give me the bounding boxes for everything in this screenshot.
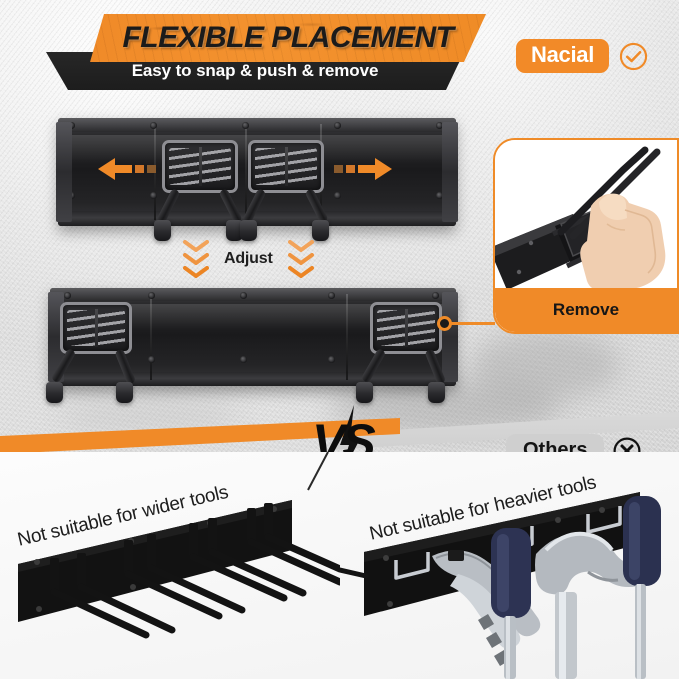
rail-top-lip bbox=[58, 118, 456, 132]
comparison-panel-heavier-tools: Not suitable for heavier tools bbox=[340, 452, 679, 679]
clip-frame bbox=[370, 302, 442, 354]
page-subtitle: Easy to snap & push & remove bbox=[46, 52, 464, 90]
rail-screw bbox=[64, 292, 71, 299]
rail-screw bbox=[328, 356, 335, 363]
comparison-panel-wider-tools: Not suitable for wider tools bbox=[0, 452, 340, 679]
rail-screw bbox=[150, 192, 157, 199]
clip-divider bbox=[95, 309, 98, 347]
rail-seam bbox=[150, 294, 152, 380]
rail-screw bbox=[240, 292, 247, 299]
top-section: FLEXIBLE PLACEMENT Easy to snap & push &… bbox=[0, 0, 679, 452]
rail-screw bbox=[334, 122, 341, 129]
rail-screw bbox=[242, 122, 249, 129]
hook-tip bbox=[46, 382, 63, 403]
rail-seam bbox=[346, 294, 348, 380]
hook-tip bbox=[240, 220, 257, 241]
rail-screw bbox=[240, 356, 247, 363]
rail-endcap-right bbox=[442, 292, 458, 382]
chevron-down-triple-icon bbox=[288, 240, 314, 278]
rail-endcap-left bbox=[56, 122, 72, 221]
rail-top-lip bbox=[50, 288, 456, 301]
rail-screw bbox=[334, 192, 341, 199]
hook-tip bbox=[116, 382, 133, 403]
rail-screw bbox=[150, 122, 157, 129]
remove-photo bbox=[495, 140, 677, 292]
remove-label: Remove bbox=[553, 300, 619, 320]
clip-frame bbox=[60, 302, 132, 354]
brand-badge: Nacial bbox=[516, 39, 648, 73]
arrow-right-icon bbox=[328, 156, 392, 182]
chevron-down-triple-icon bbox=[183, 240, 209, 278]
remove-label-bar: Remove bbox=[495, 288, 677, 332]
rail-screw bbox=[328, 292, 335, 299]
rail-screw bbox=[432, 292, 439, 299]
header-banner: FLEXIBLE PLACEMENT Easy to snap & push &… bbox=[46, 14, 486, 90]
adjust-label: Adjust bbox=[224, 250, 273, 268]
brand-name: Nacial bbox=[516, 39, 609, 73]
screwdriver bbox=[623, 496, 661, 679]
rail-seam bbox=[245, 124, 247, 219]
hand-removing-hook-illustration bbox=[495, 140, 677, 292]
hook-tip bbox=[428, 382, 445, 403]
hook-clip bbox=[162, 140, 238, 226]
hook-tip bbox=[356, 382, 373, 403]
bolt-tail-line bbox=[280, 452, 340, 492]
tool-rail-adjustable-bottom bbox=[50, 288, 456, 386]
hook-tip bbox=[312, 220, 329, 241]
check-circle-icon bbox=[619, 42, 648, 71]
adjust-indicator: Adjust bbox=[183, 240, 314, 278]
rail-endcap-right bbox=[442, 122, 458, 221]
hook-tip bbox=[154, 220, 171, 241]
clip-divider bbox=[199, 147, 202, 186]
clip-frame bbox=[248, 140, 324, 193]
arrow-left-icon bbox=[98, 156, 162, 182]
clip-divider bbox=[405, 309, 408, 347]
remove-inset-panel: Remove bbox=[493, 138, 679, 334]
infographic-page: FLEXIBLE PLACEMENT Easy to snap & push &… bbox=[0, 0, 679, 679]
tool-rail-adjustable-top bbox=[58, 118, 456, 226]
hook-clip bbox=[248, 140, 324, 226]
hook-clip bbox=[60, 302, 132, 386]
clip-frame bbox=[162, 140, 238, 193]
heavier-tools-rack-illustration bbox=[340, 452, 679, 679]
hook-clip bbox=[370, 302, 442, 386]
clip-divider bbox=[285, 147, 288, 186]
callout-dot-icon bbox=[437, 316, 452, 331]
rail-screw bbox=[148, 292, 155, 299]
bottom-section: Not suitable for wider tools bbox=[0, 452, 679, 679]
rail-screw bbox=[148, 356, 155, 363]
